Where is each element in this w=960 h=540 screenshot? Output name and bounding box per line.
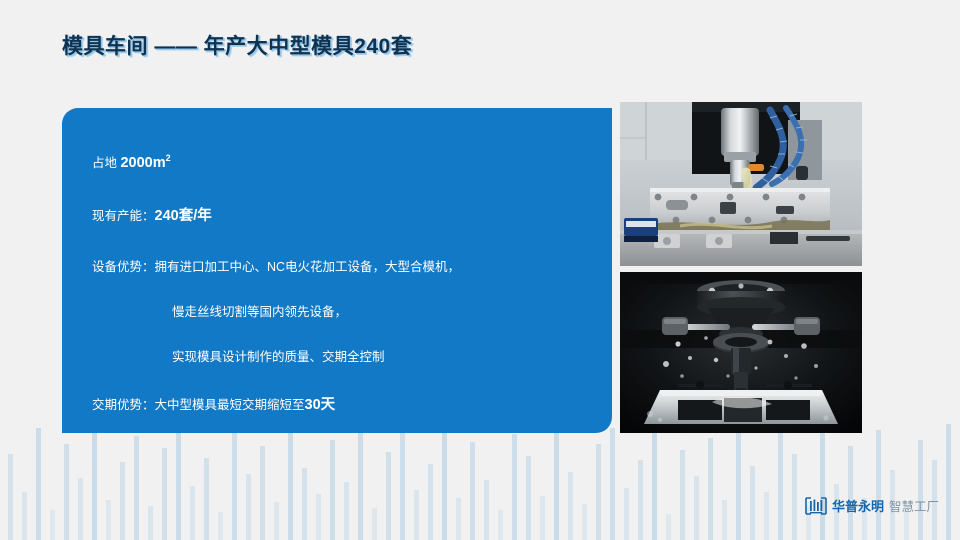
panel-line-equipment-cont1-text: 慢走丝线切割等国内领先设备， [172,305,347,319]
decorative-stripe [204,458,209,540]
panel-line-delivery-prefix: 交期优势：大中型模具最短交期缩短至 [92,398,305,412]
cnc-drilling-head-illustration [620,272,862,433]
decorative-stripe [344,482,349,540]
panel-line-delivery: 交期优势：大中型模具最短交期缩短至30天 [92,396,586,416]
cnc-machining-center-photo [620,102,862,266]
decorative-stripe [568,472,573,540]
cnc-drilling-head-photo [620,272,862,433]
content-panel: 占地 2000m2 现有产能：240套/年 设备优势：拥有进口加工中心、NC电火… [62,108,612,433]
decorative-stripe [106,500,111,540]
decorative-stripe [232,432,237,540]
panel-line-capacity-value: 240套/年 [155,208,212,224]
panel-line-area: 占地 2000m2 [92,152,586,173]
decorative-stripe [148,506,153,540]
decorative-stripe [694,476,699,540]
decorative-stripe [274,502,279,540]
decorative-stripe [288,424,293,540]
decorative-stripe [792,454,797,540]
panel-line-capacity: 现有产能：240套/年 [92,207,586,227]
decorative-stripe [78,478,83,540]
decorative-stripe [190,486,195,540]
decorative-stripe [722,500,727,540]
decorative-stripe [652,424,657,540]
panel-line-equipment-cont1: 慢走丝线切割等国内领先设备， [172,304,586,321]
decorative-stripe [134,436,139,540]
decorative-stripe [414,490,419,540]
decorative-stripe [484,480,489,540]
slide-root: 模具车间 —— 年产大中型模具240套 占地 2000m2 现有产能：240套/… [0,0,960,540]
panel-line-equipment-cont2-text: 实现模具设计制作的质量、交期全控制 [172,350,385,364]
decorative-stripe [372,508,377,540]
decorative-stripe [8,454,13,540]
decorative-stripes [0,424,960,540]
panel-line-delivery-value: 30天 [305,397,336,413]
decorative-stripe [316,494,321,540]
decorative-stripe [64,444,69,540]
decorative-stripe [624,488,629,540]
panel-line-area-prefix: 占地 [92,156,120,170]
decorative-stripe [470,442,475,540]
page-title-text: 模具车间 —— 年产大中型模具240套 [62,30,412,60]
decorative-stripe [778,432,783,540]
panel-line-area-value: 2000 [120,155,152,171]
decorative-stripe [92,424,97,540]
decorative-stripe [456,498,461,540]
decorative-stripe [260,446,265,540]
decorative-stripe [680,450,685,540]
decorative-stripe [750,466,755,540]
decorative-stripe [176,424,181,540]
decorative-stripe [50,510,55,540]
brand-logo: 华普永明 智慧工厂 [805,496,939,515]
decorative-stripe [582,504,587,540]
decorative-stripe [554,424,559,540]
decorative-stripe [764,492,769,540]
decorative-stripe [820,424,825,540]
decorative-stripe [120,462,125,540]
panel-line-area-unit: m2 [153,155,171,171]
decorative-stripe [918,440,923,540]
decorative-stripe [218,512,223,540]
decorative-stripe [526,456,531,540]
decorative-stripe [610,428,615,540]
panel-line-equipment: 设备优势：拥有进口加工中心、NC电火花加工设备，大型合模机， [92,259,586,276]
page-title: 模具车间 —— 年产大中型模具240套 [62,28,412,62]
decorative-stripe [498,510,503,540]
panel-line-capacity-prefix: 现有产能： [92,209,155,223]
decorative-stripe [386,452,391,540]
decorative-stripe [848,446,853,540]
decorative-stripe [428,464,433,540]
panel-line-equipment-text: 设备优势：拥有进口加工中心、NC电火花加工设备，大型合模机， [92,260,460,274]
decorative-stripe [358,424,363,540]
bracket-bars-logo-icon [805,497,827,515]
decorative-stripe [946,424,951,540]
decorative-stripe [162,448,167,540]
decorative-stripe [400,430,405,540]
decorative-stripe [36,428,41,540]
panel-line-equipment-cont2: 实现模具设计制作的质量、交期全控制 [172,349,586,366]
decorative-stripe [330,440,335,540]
decorative-stripe [246,474,251,540]
decorative-stripe [540,496,545,540]
decorative-stripe [596,444,601,540]
decorative-stripe [442,424,447,540]
decorative-stripe [512,434,517,540]
decorative-stripe [302,468,307,540]
decorative-stripe [638,460,643,540]
cnc-machining-center-illustration [620,102,862,266]
decorative-stripe [708,438,713,540]
decorative-stripe [666,514,671,540]
decorative-stripe [876,430,881,540]
decorative-stripe [22,492,27,540]
decorative-stripe [736,424,741,540]
logo-company-name: 华普永明 [832,496,884,515]
logo-tagline: 智慧工厂 [889,496,939,515]
